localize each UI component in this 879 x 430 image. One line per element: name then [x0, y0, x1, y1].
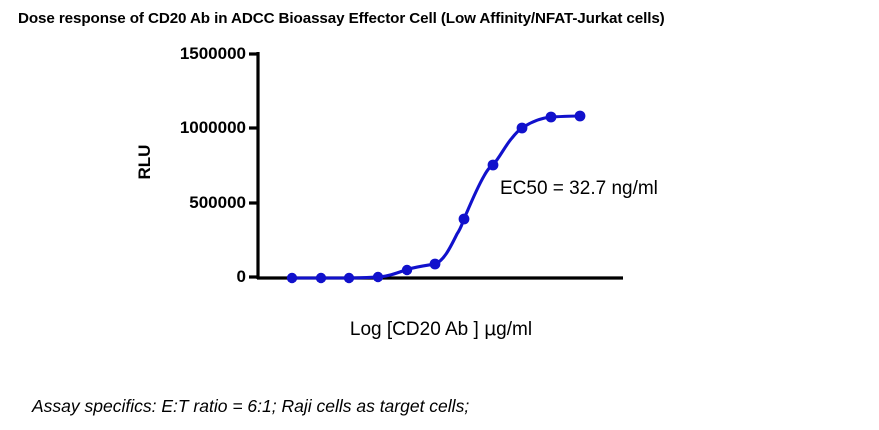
data-point: [488, 160, 499, 171]
data-point: [459, 214, 470, 225]
x-axis-title-suffix: g/ml: [496, 319, 532, 340]
plot-area: 1500000 1000000 500000 0 RLU Log [CD20 A…: [0, 0, 879, 360]
data-point: [430, 259, 441, 270]
data-point: [575, 111, 586, 122]
data-point: [402, 265, 412, 275]
data-point: [344, 273, 354, 283]
y-axis-title: RLU: [135, 129, 155, 195]
x-axis-title: Log [CD20 Ab ] μg/ml: [258, 318, 624, 341]
data-point: [287, 273, 297, 283]
data-point: [316, 273, 326, 283]
data-point: [373, 272, 383, 282]
data-point: [546, 112, 557, 123]
ec50-annotation: EC50 = 32.7 ng/ml: [500, 178, 658, 200]
data-point: [517, 123, 528, 134]
y-tick-label-0: 0: [48, 267, 246, 287]
mu-symbol: μ: [484, 318, 496, 340]
chart-figure: Dose response of CD20 Ab in ADCC Bioassa…: [0, 0, 879, 430]
y-tick-label-500000: 500000: [48, 193, 246, 213]
assay-specifics-note: Assay specifics: E:T ratio = 6:1; Raji c…: [32, 396, 469, 417]
y-tick-label-1500000: 1500000: [48, 44, 246, 64]
x-axis-title-prefix: Log [CD20 Ab ]: [350, 319, 484, 340]
